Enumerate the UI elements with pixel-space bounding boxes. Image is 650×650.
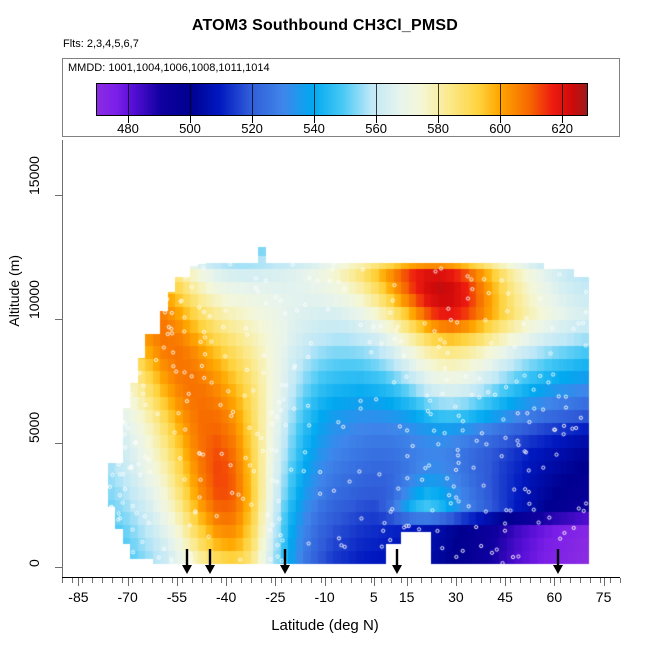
x-axis-minor-tick <box>490 578 491 583</box>
x-axis-minor-tick <box>122 578 123 583</box>
x-axis-minor-tick <box>540 578 541 583</box>
page-title: ATOM3 Southbound CH3Cl_PMSD <box>0 17 650 35</box>
x-axis-minor-tick <box>590 578 591 583</box>
x-axis-minor-tick <box>261 578 262 583</box>
x-axis-minor-tick <box>341 578 342 583</box>
x-axis-minor-tick <box>441 578 442 583</box>
colorbar-ticks <box>96 116 588 123</box>
flights-annotation: Flts: 2,3,4,5,6,7 <box>63 38 139 50</box>
x-axis-minor-tick <box>321 578 322 583</box>
y-axis-title: Altitude (m) <box>6 255 22 327</box>
x-axis-minor-tick <box>431 578 432 583</box>
x-axis-minor-tick <box>231 578 232 583</box>
colorbar-separator <box>376 84 377 115</box>
x-axis-minor-tick <box>351 578 352 583</box>
flight-marker-arrow <box>391 549 403 575</box>
x-axis-minor-tick <box>271 578 272 583</box>
x-axis-minor-tick <box>361 578 362 583</box>
x-axis-minor-tick <box>132 578 133 583</box>
x-axis-minor-tick <box>421 578 422 583</box>
x-axis-minor-tick <box>381 578 382 583</box>
colorbar-tick-label: 520 <box>241 121 263 136</box>
colorbar-tick-label: 600 <box>489 121 511 136</box>
x-axis-minor-tick <box>550 578 551 583</box>
x-axis-minor-tick <box>152 578 153 583</box>
x-axis-tick <box>177 578 178 586</box>
x-axis-minor-tick <box>82 578 83 583</box>
x-axis-minor-tick <box>241 578 242 583</box>
x-axis-tick <box>554 578 555 586</box>
x-axis-minor-tick <box>281 578 282 583</box>
x-axis-minor-tick <box>481 578 482 583</box>
x-axis-minor-tick <box>221 578 222 583</box>
x-axis-tick-label: 5 <box>370 589 378 605</box>
x-axis-minor-tick <box>112 578 113 583</box>
x-axis-minor-tick <box>411 578 412 583</box>
x-axis-minor-tick <box>251 578 252 583</box>
x-axis-tick-label: 30 <box>448 589 464 605</box>
x-axis-minor-tick <box>580 578 581 583</box>
x-axis-minor-tick <box>291 578 292 583</box>
mmdd-annotation: MMDD: 1001,1004,1006,1008,1011,1014 <box>68 62 270 74</box>
x-axis-minor-tick <box>371 578 372 583</box>
plot-area <box>62 140 620 577</box>
x-axis-minor-tick <box>172 578 173 583</box>
x-axis-minor-tick <box>620 578 621 583</box>
x-axis-tick <box>456 578 457 586</box>
x-axis-tick-label: -25 <box>265 589 285 605</box>
x-axis-title: Latitude (deg N) <box>0 617 650 634</box>
x-axis-minor-tick <box>102 578 103 583</box>
x-axis-tick-label: 15 <box>399 589 415 605</box>
x-axis-minor-tick <box>72 578 73 583</box>
colorbar-separator <box>314 84 315 115</box>
x-axis-minor-tick <box>182 578 183 583</box>
colorbar-tick-label: 560 <box>365 121 387 136</box>
x-axis-minor-tick <box>451 578 452 583</box>
colorbar-tick-label: 620 <box>551 121 573 136</box>
x-axis-tick <box>275 578 276 586</box>
x-axis-minor-tick <box>331 578 332 583</box>
x-axis-tick <box>78 578 79 586</box>
x-axis-tick-label: -70 <box>118 589 138 605</box>
x-axis-tick-label: -10 <box>314 589 334 605</box>
x-axis-tick <box>604 578 605 586</box>
x-axis-minor-tick <box>211 578 212 583</box>
x-axis-tick <box>505 578 506 586</box>
flight-marker-arrow <box>204 549 216 575</box>
x-axis-minor-tick <box>301 578 302 583</box>
x-axis-tick-label: -55 <box>167 589 187 605</box>
colorbar-separator <box>500 84 501 115</box>
x-axis-tick-label: -40 <box>216 589 236 605</box>
flight-marker-arrow <box>279 549 291 575</box>
heatmap-canvas <box>62 140 620 577</box>
colorbar-tick-label: 500 <box>179 121 201 136</box>
colorbar-tick-label: 580 <box>427 121 449 136</box>
x-axis-minor-tick <box>311 578 312 583</box>
x-axis-tick-label: 45 <box>497 589 513 605</box>
x-axis-minor-tick <box>500 578 501 583</box>
x-axis-tick-label: -85 <box>68 589 88 605</box>
x-axis-tick-label: 60 <box>547 589 563 605</box>
colorbar-separator <box>190 84 191 115</box>
x-axis-minor-tick <box>610 578 611 583</box>
legend-panel: MMDD: 1001,1004,1006,1008,1011,1014 4805… <box>62 58 620 137</box>
x-axis-minor-tick <box>520 578 521 583</box>
x-axis-minor-tick <box>162 578 163 583</box>
x-axis-minor-tick <box>142 578 143 583</box>
x-axis-minor-tick <box>401 578 402 583</box>
y-axis-tick <box>55 195 62 196</box>
y-axis-tick <box>55 443 62 444</box>
x-axis-minor-tick <box>560 578 561 583</box>
x-axis-minor-tick <box>192 578 193 583</box>
x-axis-tick <box>374 578 375 586</box>
x-axis-tick <box>407 578 408 586</box>
colorbar-separator <box>562 84 563 115</box>
flight-marker-arrow <box>181 549 193 575</box>
y-axis-tick <box>55 567 62 568</box>
x-axis-minor-tick <box>461 578 462 583</box>
y-axis-tick <box>55 319 62 320</box>
colorbar <box>96 83 588 116</box>
y-axis-line <box>62 140 63 578</box>
x-axis-minor-tick <box>510 578 511 583</box>
x-axis-minor-tick <box>391 578 392 583</box>
x-axis-minor-tick <box>600 578 601 583</box>
x-axis-tick-label: 75 <box>596 589 612 605</box>
colorbar-separator <box>438 84 439 115</box>
colorbar-separator <box>128 84 129 115</box>
x-axis-minor-tick <box>570 578 571 583</box>
x-axis-tick <box>325 578 326 586</box>
x-axis-tick <box>226 578 227 586</box>
x-axis-minor-tick <box>471 578 472 583</box>
x-axis-minor-tick <box>92 578 93 583</box>
x-axis-tick <box>128 578 129 586</box>
flight-marker-arrow <box>552 549 564 575</box>
figure-root: ATOM3 Southbound CH3Cl_PMSD Flts: 2,3,4,… <box>0 0 650 650</box>
colorbar-separator <box>252 84 253 115</box>
colorbar-tick-label: 480 <box>117 121 139 136</box>
x-axis-minor-tick <box>202 578 203 583</box>
x-axis-minor-tick <box>62 578 63 583</box>
x-axis-minor-tick <box>530 578 531 583</box>
colorbar-tick-label: 540 <box>303 121 325 136</box>
